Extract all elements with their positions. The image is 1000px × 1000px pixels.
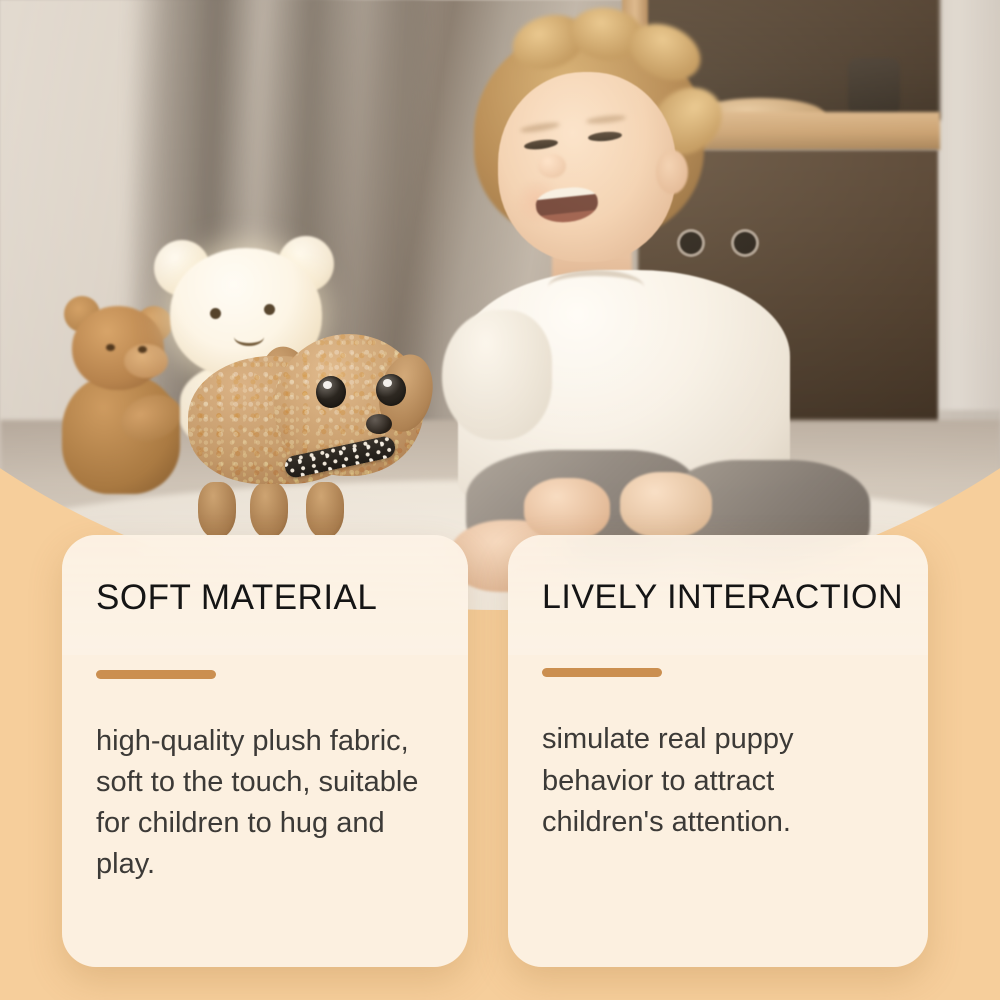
feature-card-body: high-quality plush fabric, soft to the t… xyxy=(96,721,434,886)
feature-card-soft-material: SOFT MATERIAL high-quality plush fabric,… xyxy=(62,535,468,967)
feature-card-lively-interaction: LIVELY INTERACTION simulate real puppy b… xyxy=(508,535,928,967)
feature-card-title: LIVELY INTERACTION xyxy=(542,579,894,616)
feature-card-accent-rule xyxy=(96,670,216,679)
feature-card-accent-rule xyxy=(542,668,662,677)
product-feature-poster: SOFT MATERIAL high-quality plush fabric,… xyxy=(0,0,1000,1000)
feature-card-title: SOFT MATERIAL xyxy=(96,579,434,618)
feature-cards: SOFT MATERIAL high-quality plush fabric,… xyxy=(0,0,1000,1000)
feature-card-body: simulate real puppy behavior to attract … xyxy=(542,719,894,843)
